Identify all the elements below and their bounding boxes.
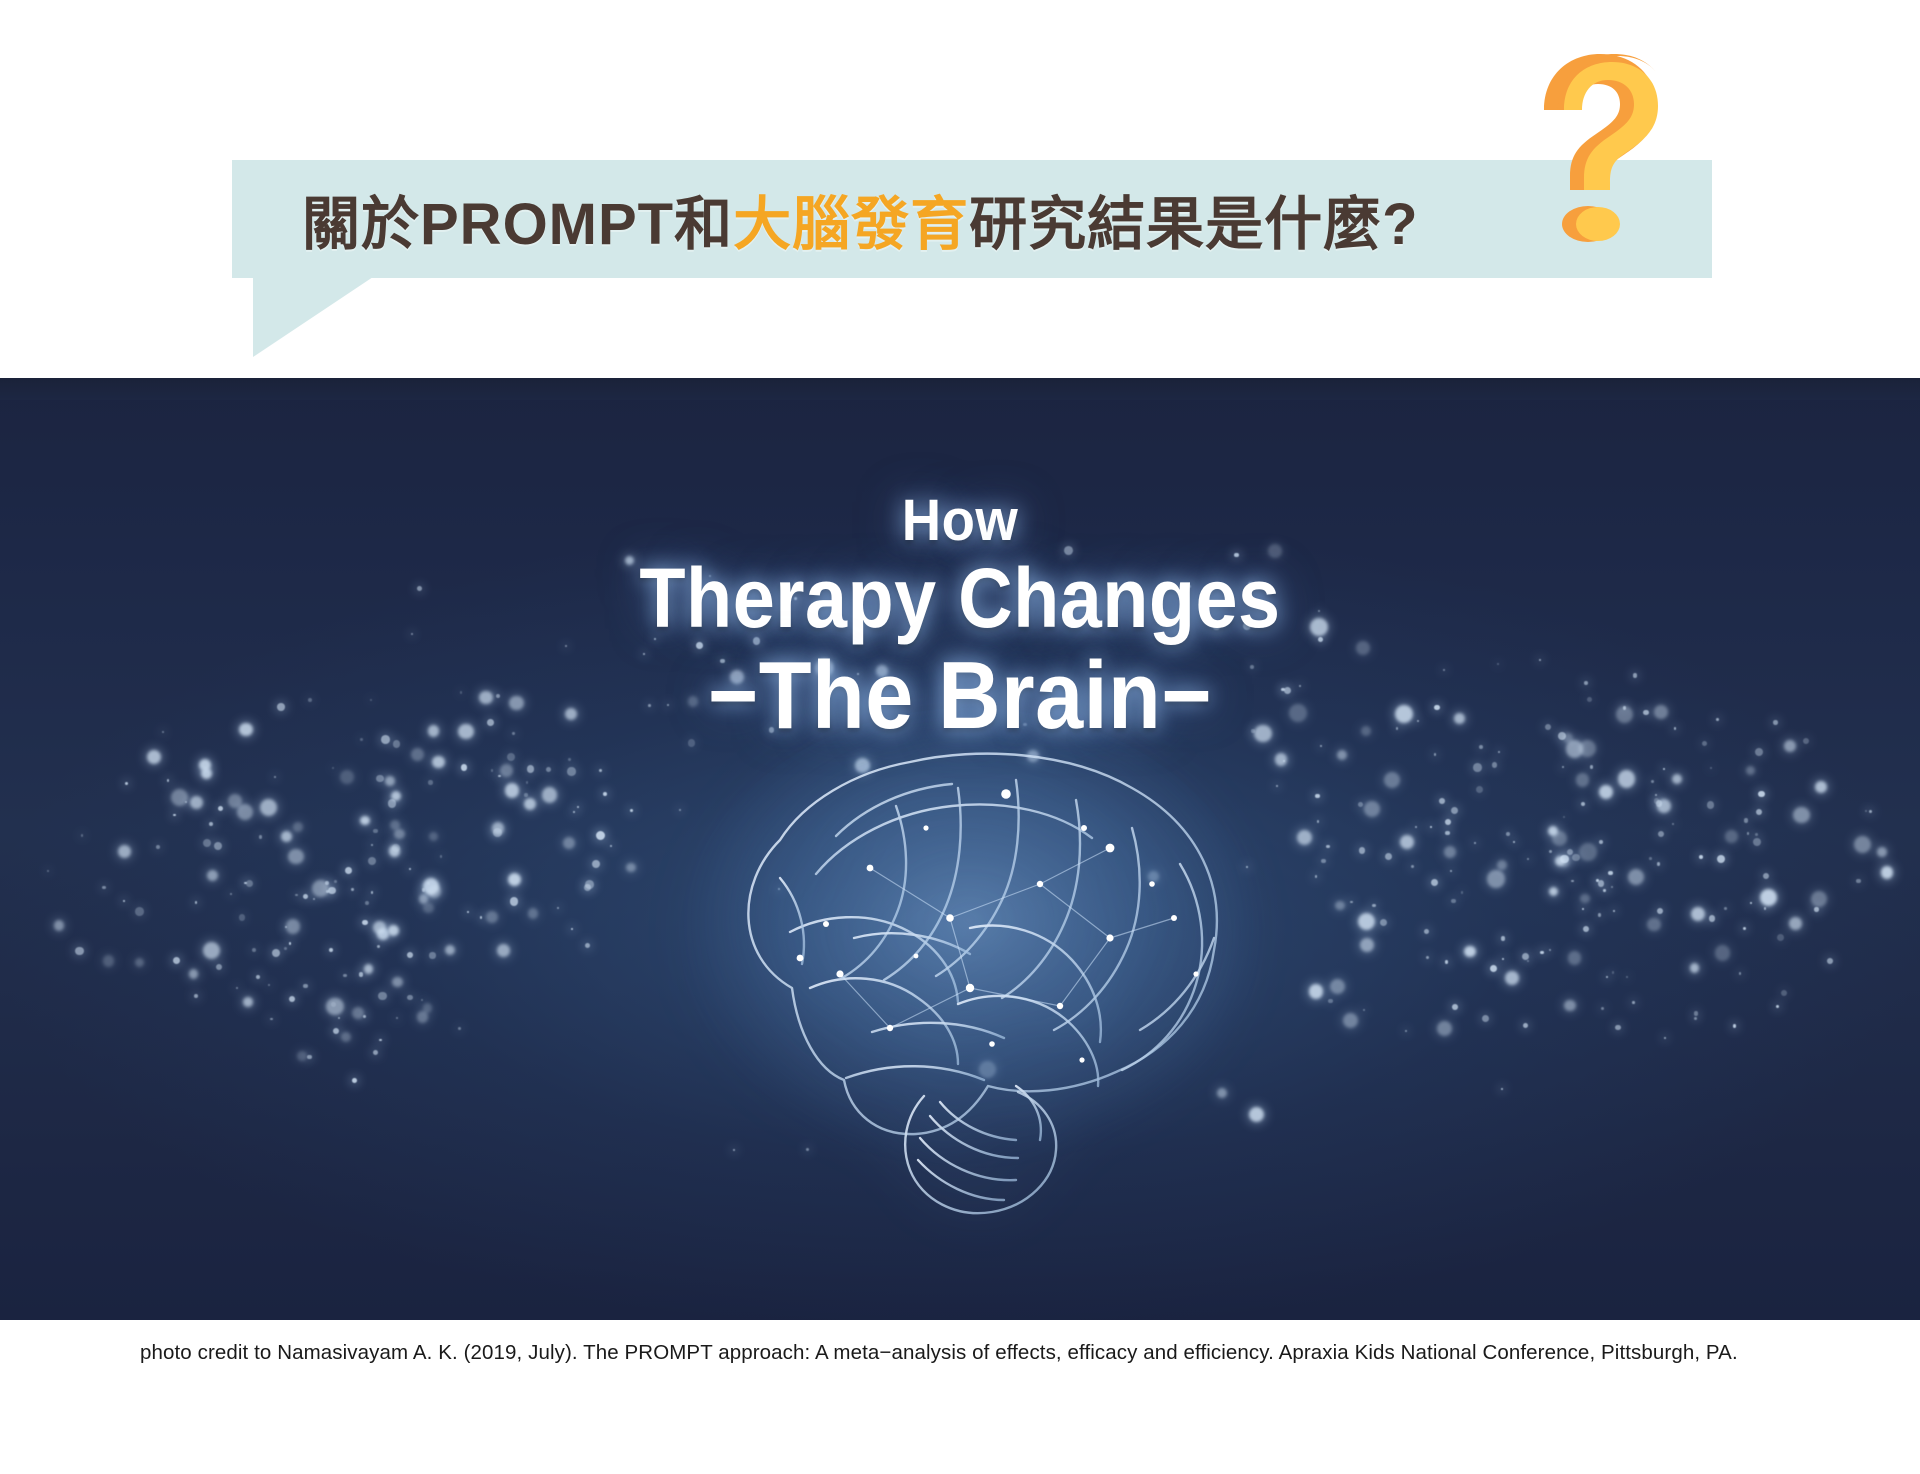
speech-bubble-tail	[253, 277, 373, 357]
page-title: 關於PROMPT和大腦發育研究結果是什麼?	[232, 160, 1712, 278]
brain-illustration	[640, 688, 1300, 1248]
page-title-prefix: 關於PROMPT和	[302, 177, 733, 261]
headline-line-3: −The Brain−	[96, 644, 1824, 748]
page-title-suffix: 研究結果是什麼?	[969, 177, 1418, 261]
photo-credit-caption: photo credit to Namasivayam A. K. (2019,…	[140, 1338, 1800, 1368]
slide-root: 關於PROMPT和大腦發育研究結果是什麼?	[0, 0, 1920, 1474]
page-title-highlight: 大腦發育	[733, 177, 969, 261]
headline-line-1: How	[58, 490, 1863, 552]
headline-line-2: Therapy Changes	[96, 552, 1824, 644]
brain-image-panel: How Therapy Changes −The Brain−	[0, 378, 1920, 1320]
header-zone: 關於PROMPT和大腦發育研究結果是什麼?	[0, 0, 1920, 378]
brain-headline: How Therapy Changes −The Brain−	[0, 490, 1920, 748]
